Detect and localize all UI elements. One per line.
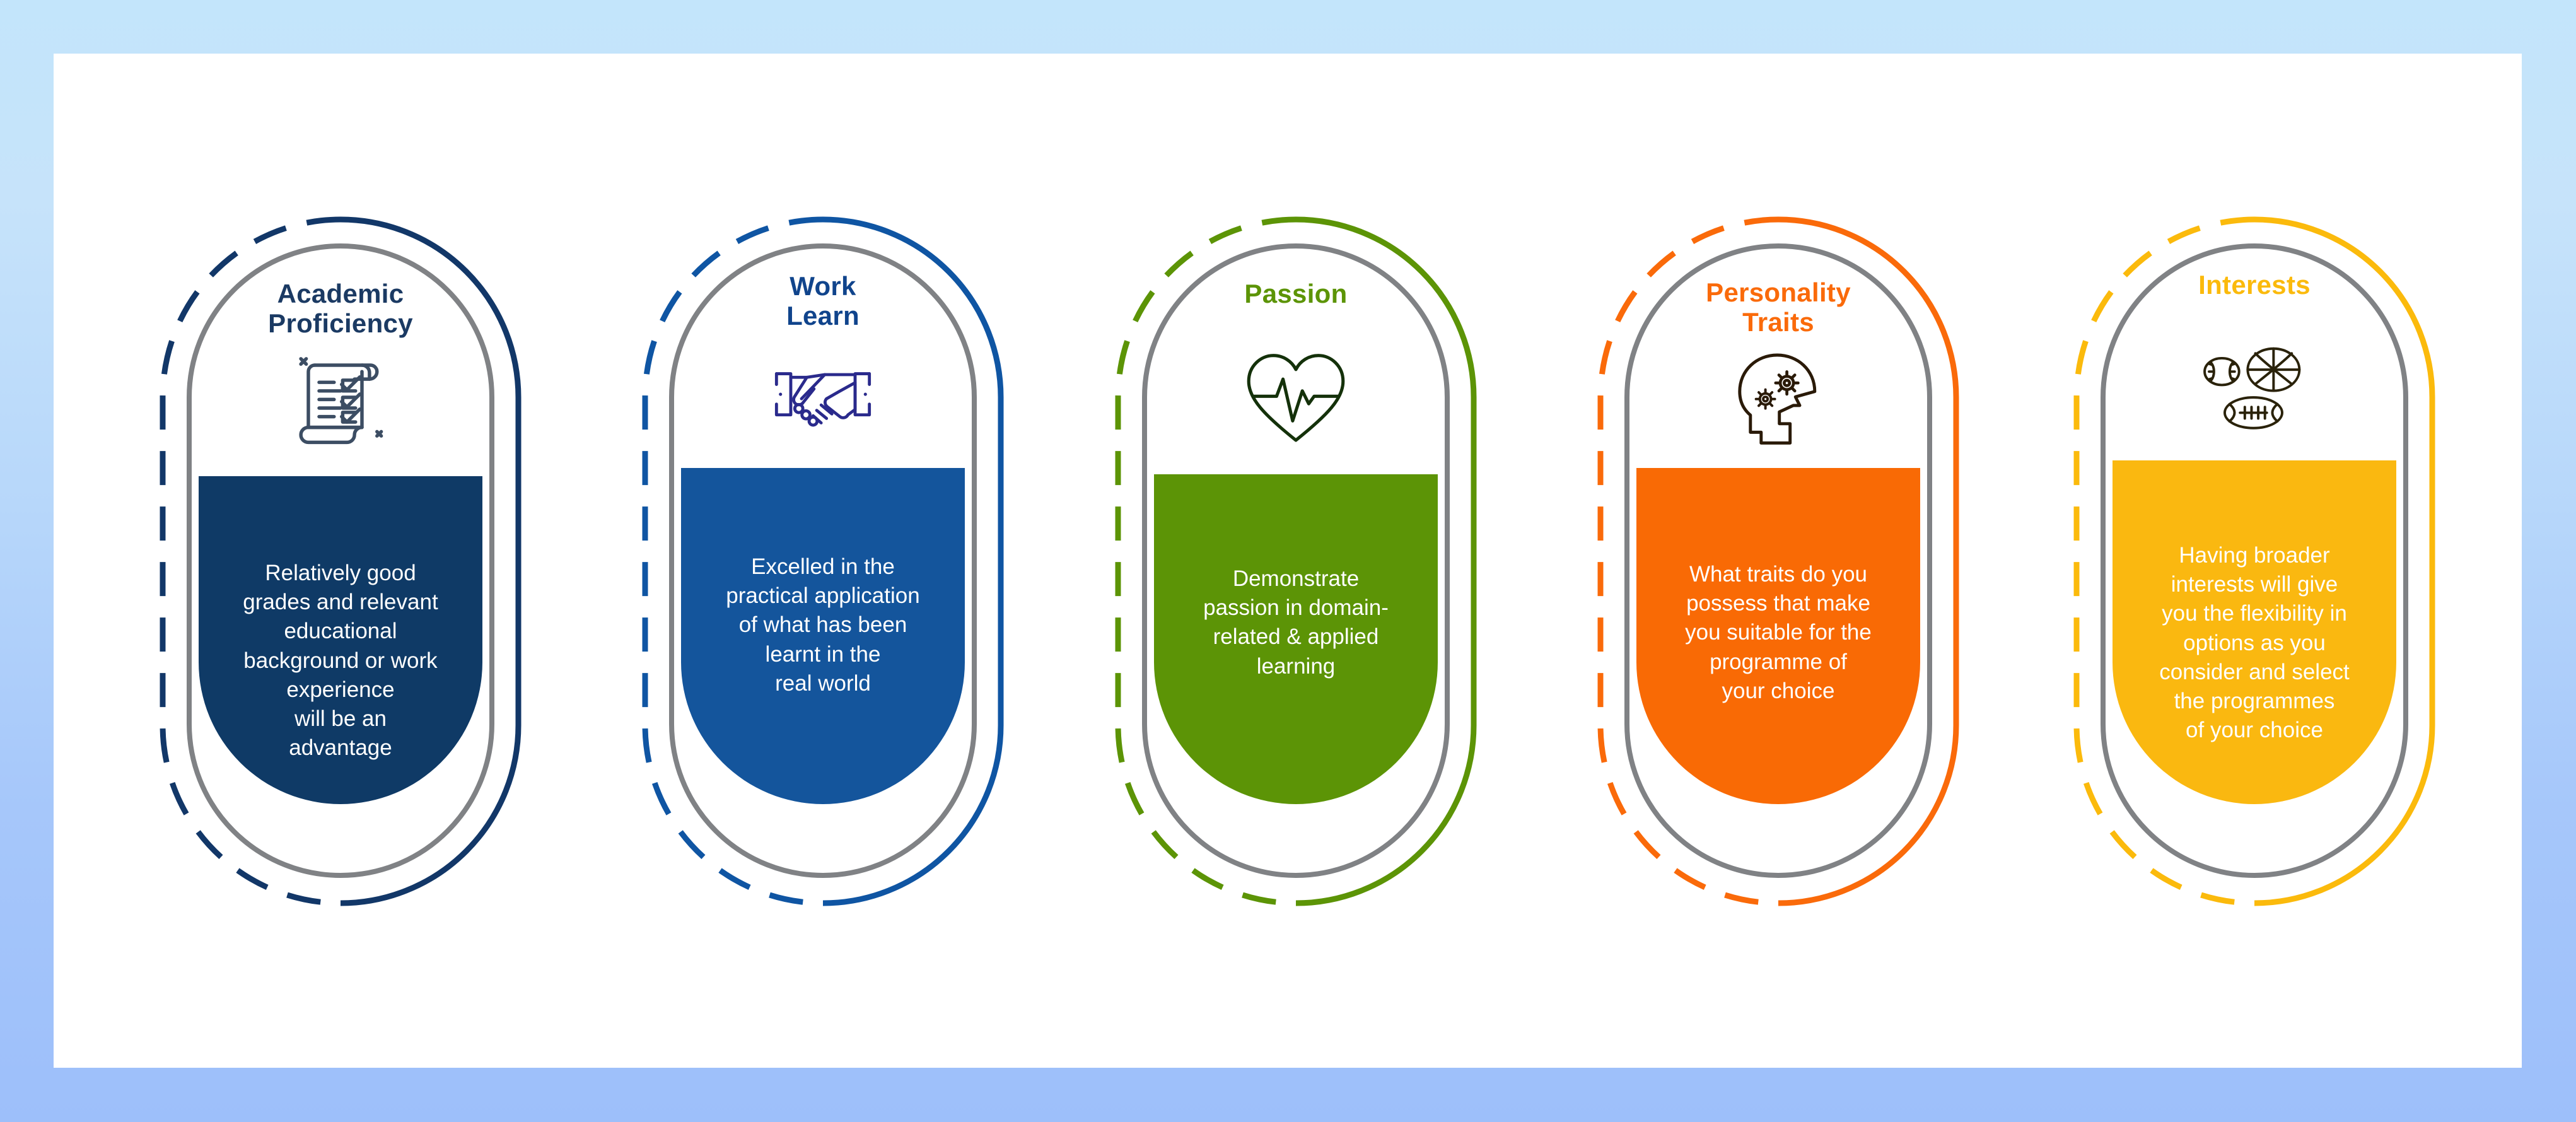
card-work-learn[interactable]: Work Learn [634,208,1012,915]
heart-pulse-icon [1107,344,1485,451]
card-passion[interactable]: Passion Demonstrate passion in domain- r… [1107,208,1485,915]
card-4-frame [1589,208,1967,915]
card-academic-proficiency[interactable]: Academic Proficiency [151,208,530,915]
head-gears-icon [1589,342,1967,454]
card-row: Academic Proficiency [0,0,2576,1122]
card-interests[interactable]: Interests [2065,208,2444,915]
infographic-stage: Academic Proficiency [0,0,2576,1122]
card-3-fill-panel [1147,248,1445,873]
card-5-frame [2065,208,2444,915]
sports-balls-icon [2065,334,2444,445]
card-personality-traits[interactable]: Personality Traits What tra [1589,208,1967,915]
scroll-checklist-icon [151,341,530,454]
card-3-frame [1107,208,1485,915]
handshake-icon [634,346,1012,447]
card-1-frame [151,208,530,915]
card-2-frame [634,208,1012,915]
